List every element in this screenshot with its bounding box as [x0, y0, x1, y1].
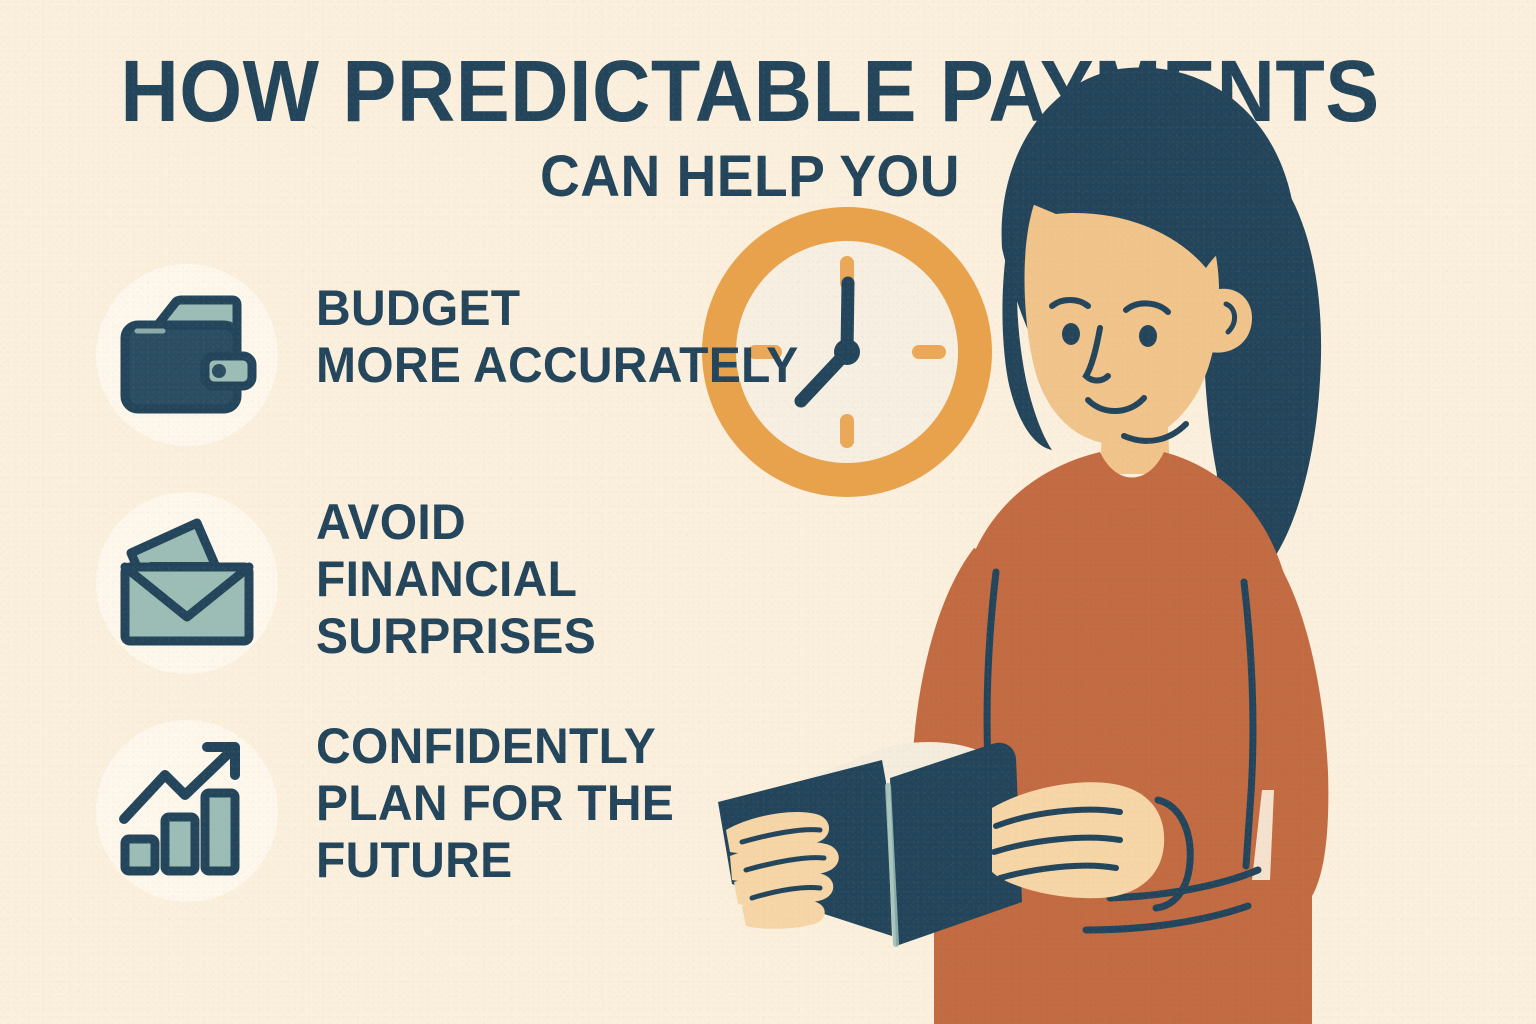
wallet-icon [92, 258, 282, 448]
headline-block: HOW PREDICTABLE PAYMENTS CAN HELP YOU [0, 52, 1500, 206]
benefits-list: BUDGET MORE ACCURATELY AVOID FINANCIAL S… [92, 258, 852, 942]
list-item: CONFIDENTLY PLAN FOR THE FUTURE [92, 714, 852, 904]
benefit-label: BUDGET MORE ACCURATELY [316, 258, 799, 394]
benefit-label: CONFIDENTLY PLAN FOR THE FUTURE [316, 714, 674, 889]
page-subtitle: CAN HELP YOU [38, 148, 1463, 206]
growth-chart-icon [92, 714, 282, 904]
page-title: HOW PREDICTABLE PAYMENTS [53, 52, 1448, 132]
list-item: AVOID FINANCIAL SURPRISES [92, 486, 852, 676]
list-item: BUDGET MORE ACCURATELY [92, 258, 852, 448]
open-envelope-icon [92, 486, 282, 676]
benefit-label: AVOID FINANCIAL SURPRISES [316, 486, 596, 665]
infographic-canvas: HOW PREDICTABLE PAYMENTS CAN HELP YOU [0, 0, 1536, 1024]
